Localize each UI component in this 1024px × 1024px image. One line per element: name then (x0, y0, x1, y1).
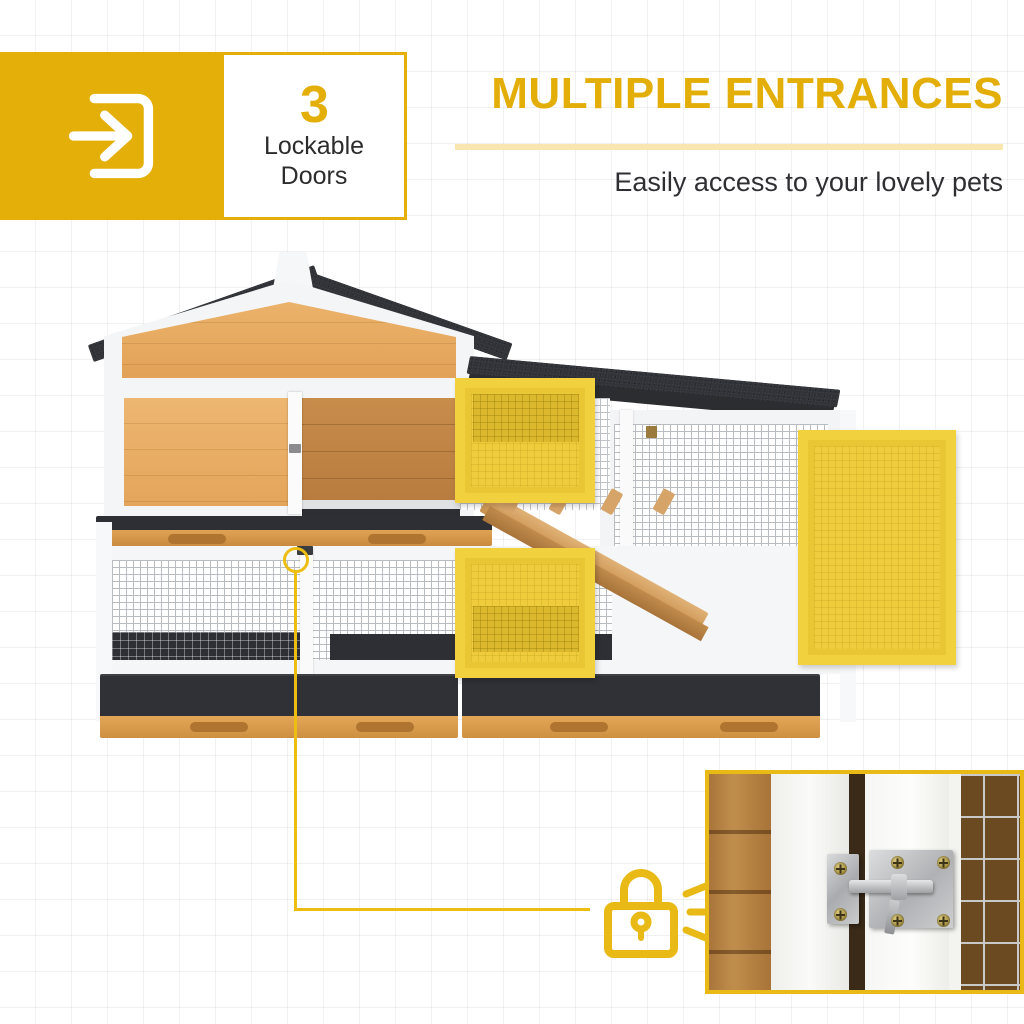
product-illustration (0, 230, 1024, 760)
highlighted-door-lower-left[interactable] (455, 548, 595, 678)
pull-out-cleaning-tray-left[interactable] (100, 674, 458, 722)
wing-latch-icon[interactable] (646, 426, 657, 438)
upper-sleeping-compartment (302, 398, 460, 502)
latch-location-marker (283, 547, 309, 573)
infographic-page: 3 Lockable Doors MULTIPLE ENTRANCES Easi… (0, 0, 1024, 1024)
tray-handle-cutout[interactable] (356, 722, 414, 732)
badge-icon-block (0, 52, 222, 220)
tray-handle-cutout[interactable] (190, 722, 248, 732)
screw-icon (891, 914, 904, 927)
tray-handle-cutout[interactable] (720, 722, 778, 732)
slide-bolt-knob (891, 874, 907, 900)
screw-icon (937, 856, 950, 869)
house-door-stile (288, 392, 302, 514)
screw-icon (834, 862, 847, 875)
house-door-latch-icon[interactable] (289, 444, 301, 453)
pull-out-cleaning-tray-right[interactable] (462, 674, 820, 722)
compartment-floor (302, 500, 460, 509)
tray-handle-cutout[interactable] (368, 534, 426, 544)
door-vent-panel (473, 606, 579, 652)
badge-label-line1: Lockable (264, 132, 364, 162)
latch-closeup-inset (705, 770, 1024, 994)
tray-handle-cutout[interactable] (550, 722, 608, 732)
lockable-doors-badge: 3 Lockable Doors (221, 52, 407, 220)
page-subtitle: Easily access to your lovely pets (455, 166, 1003, 198)
highlighted-door-upper-left[interactable] (455, 378, 595, 503)
page-title: MULTIPLE ENTRANCES (455, 72, 1003, 116)
door-vent-panel (473, 394, 579, 442)
run-floor-mesh-left (112, 632, 308, 660)
enter-arrow-icon (59, 84, 163, 188)
leader-line-vertical (294, 573, 297, 911)
tray-handle-cutout[interactable] (168, 534, 226, 544)
highlighted-door-right-side[interactable] (798, 430, 956, 665)
open-padlock-icon (600, 858, 718, 962)
door-mesh-panel (808, 440, 946, 655)
badge-count: 3 (300, 81, 328, 130)
leader-line-horizontal (294, 908, 590, 911)
screw-icon (834, 908, 847, 921)
middle-tray-front (96, 530, 492, 546)
screw-icon (937, 914, 950, 927)
wood-wall-panel (124, 398, 288, 506)
natural-wood-frame (709, 774, 771, 990)
title-divider (455, 144, 1003, 150)
screw-icon (891, 856, 904, 869)
badge-label-line2: Doors (281, 162, 348, 192)
